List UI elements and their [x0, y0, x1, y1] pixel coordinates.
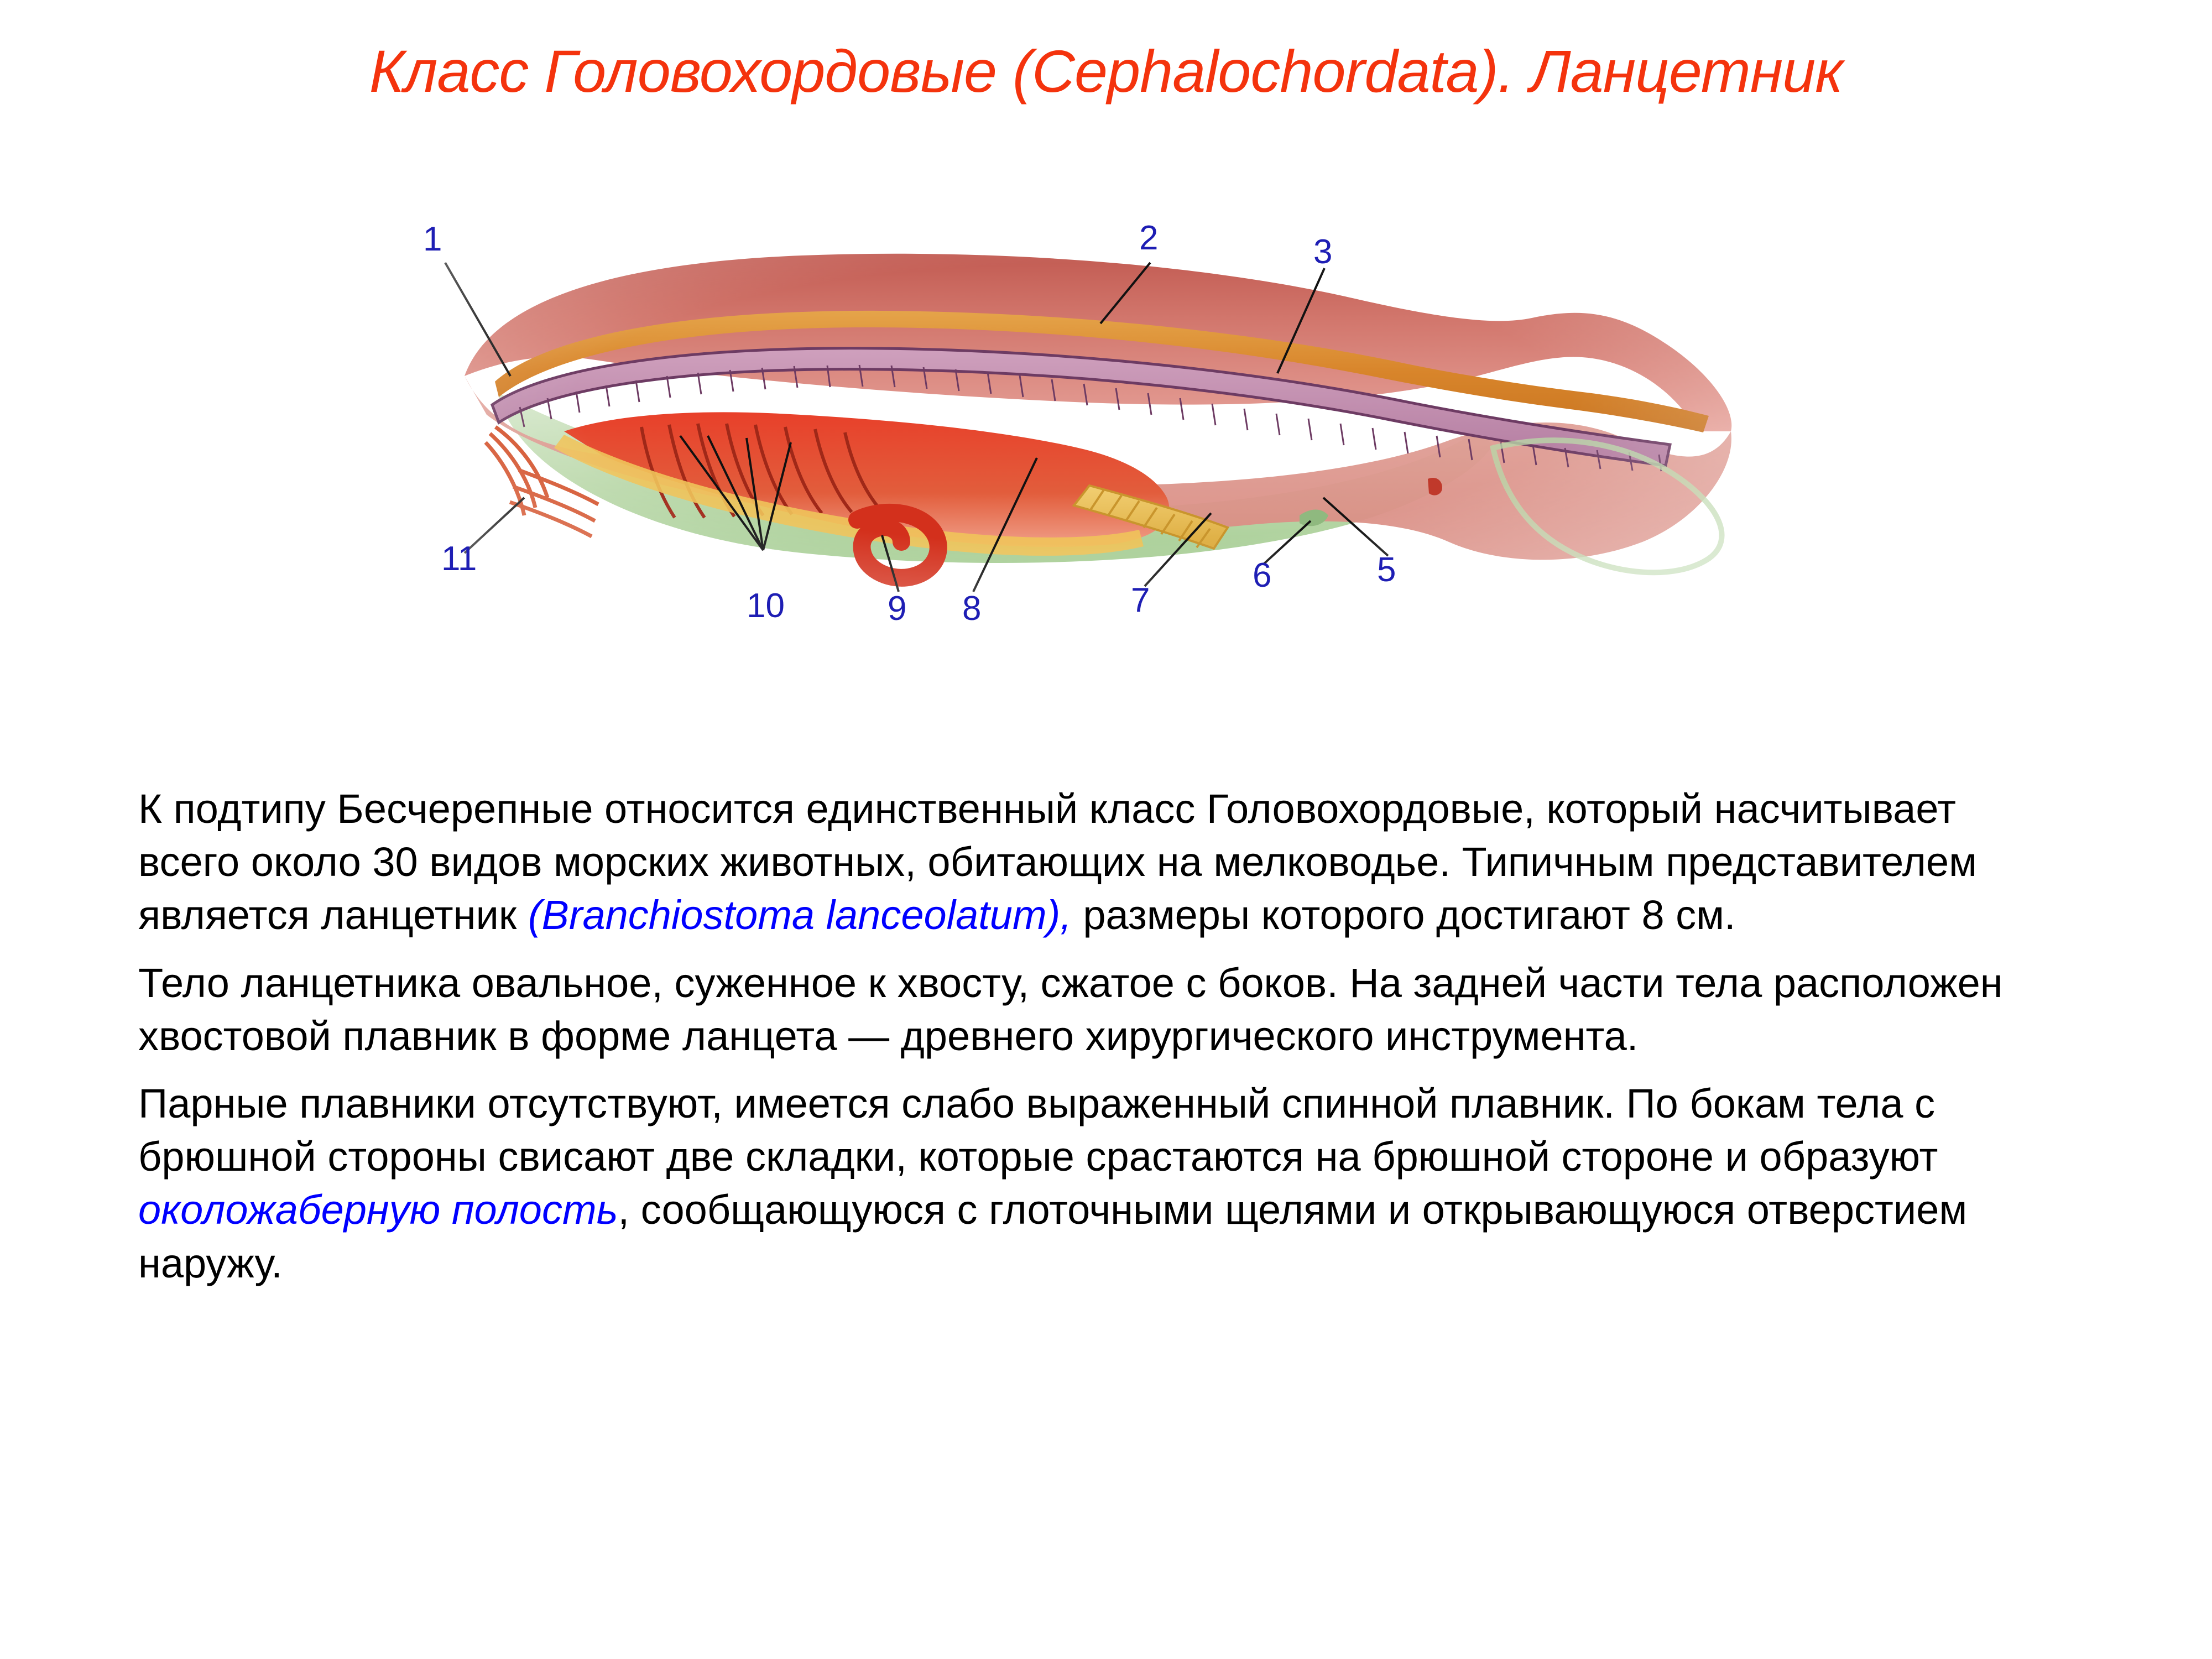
- figure-label-8: 8: [962, 592, 981, 626]
- lancelet-illustration: [382, 210, 1764, 597]
- body-text-block: К подтипу Бесчерепные относится единстве…: [138, 782, 2068, 1290]
- page-title: Класс Головохордовые (Cephalochordata). …: [0, 39, 2212, 105]
- lancelet-anatomy-figure: 1 2 3 5 6 7 8 9 10 11: [382, 210, 1764, 597]
- text-run-latin: (Branchiostoma lanceolatum),: [528, 892, 1072, 938]
- figure-label-5: 5: [1377, 553, 1396, 587]
- text-run-normal: Парные плавники отсутствуют, имеется сла…: [138, 1081, 1938, 1180]
- figure-label-9: 9: [888, 592, 906, 626]
- figure-label-1: 1: [423, 222, 442, 257]
- figure-label-3: 3: [1313, 235, 1332, 269]
- text-run-normal: размеры которого достигают 8 см.: [1072, 892, 1736, 938]
- paragraph-1: К подтипу Бесчерепные относится единстве…: [138, 782, 2068, 942]
- text-run-term: околожаберную полость: [138, 1187, 618, 1233]
- figure-label-2: 2: [1139, 221, 1158, 255]
- figure-label-6: 6: [1253, 559, 1271, 593]
- figure-label-11: 11: [441, 542, 477, 576]
- paragraph-2: Тело ланцетника овальное, суженное к хво…: [138, 957, 2068, 1063]
- paragraph-3: Парные плавники отсутствуют, имеется сла…: [138, 1077, 2068, 1290]
- figure-label-10: 10: [747, 589, 785, 623]
- text-run-normal: Тело ланцетника овальное, суженное к хво…: [138, 960, 2003, 1059]
- figure-label-7: 7: [1131, 583, 1150, 618]
